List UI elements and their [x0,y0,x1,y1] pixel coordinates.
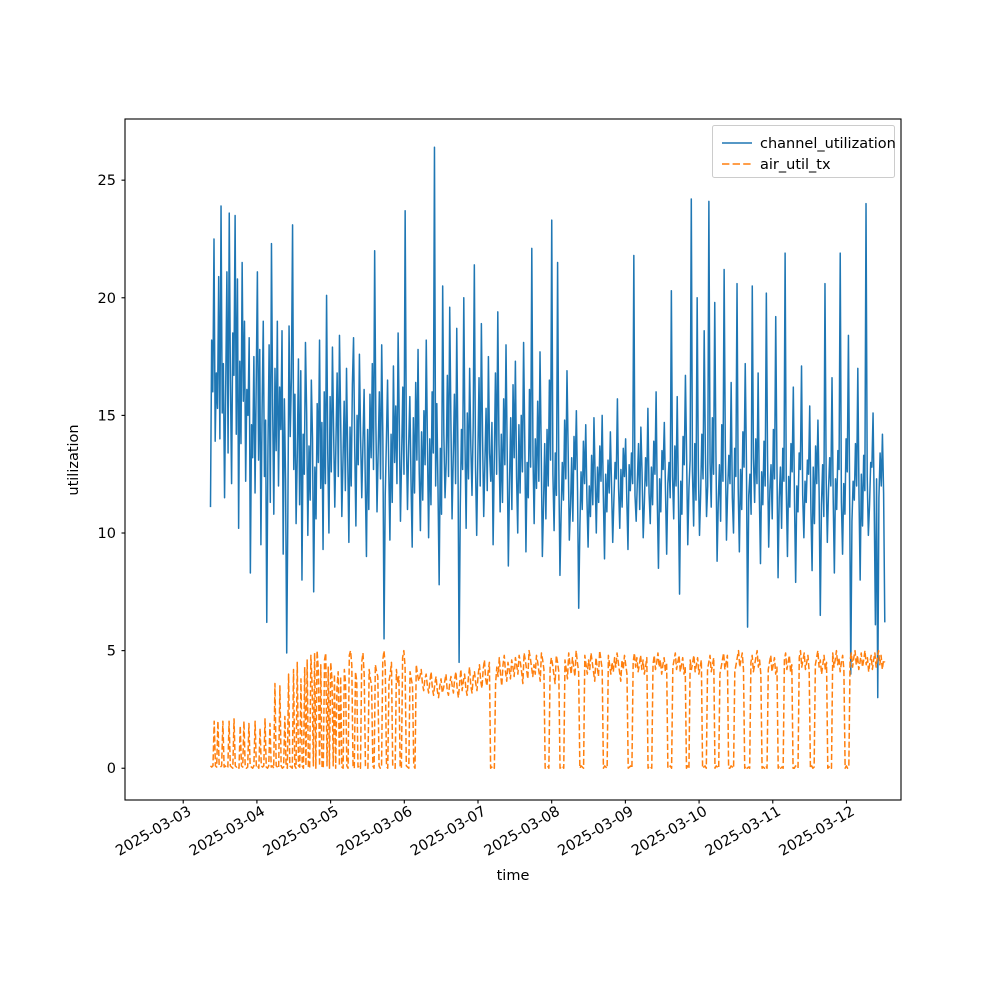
x-axis-label: time [497,868,530,884]
chart-canvas: 0510152025 2025-03-032025-03-042025-03-0… [0,0,1000,1000]
y-tick-label: 20 [98,291,116,307]
y-axis-label: utilization [66,424,82,495]
legend-label-channel-utilization: channel_utilization [760,136,896,152]
x-tick-label: 2025-03-08 [482,804,563,860]
x-tick-label: 2025-03-10 [629,804,710,860]
x-tick-label: 2025-03-11 [703,804,784,860]
y-tick-label: 15 [98,408,116,424]
y-tick-label: 5 [107,644,116,660]
y-tick-label: 25 [98,173,116,189]
legend-label-air-util-tx: air_util_tx [760,157,831,173]
x-tick-label: 2025-03-06 [334,804,415,860]
x-axis-ticks: 2025-03-032025-03-042025-03-052025-03-06… [113,800,857,860]
x-tick-label: 2025-03-04 [187,804,268,860]
x-tick-label: 2025-03-09 [555,804,636,860]
x-tick-label: 2025-03-03 [113,804,194,860]
x-tick-label: 2025-03-05 [261,804,342,860]
y-tick-label: 0 [107,761,116,777]
y-tick-label: 10 [98,526,116,542]
y-axis-ticks: 0510152025 [98,173,125,777]
x-tick-label: 2025-03-07 [408,804,489,860]
x-tick-label: 2025-03-12 [776,804,857,860]
matplotlib-figure: 0510152025 2025-03-032025-03-042025-03-0… [0,0,1000,1000]
chart-legend[interactable]: channel_utilization air_util_tx [713,126,896,178]
